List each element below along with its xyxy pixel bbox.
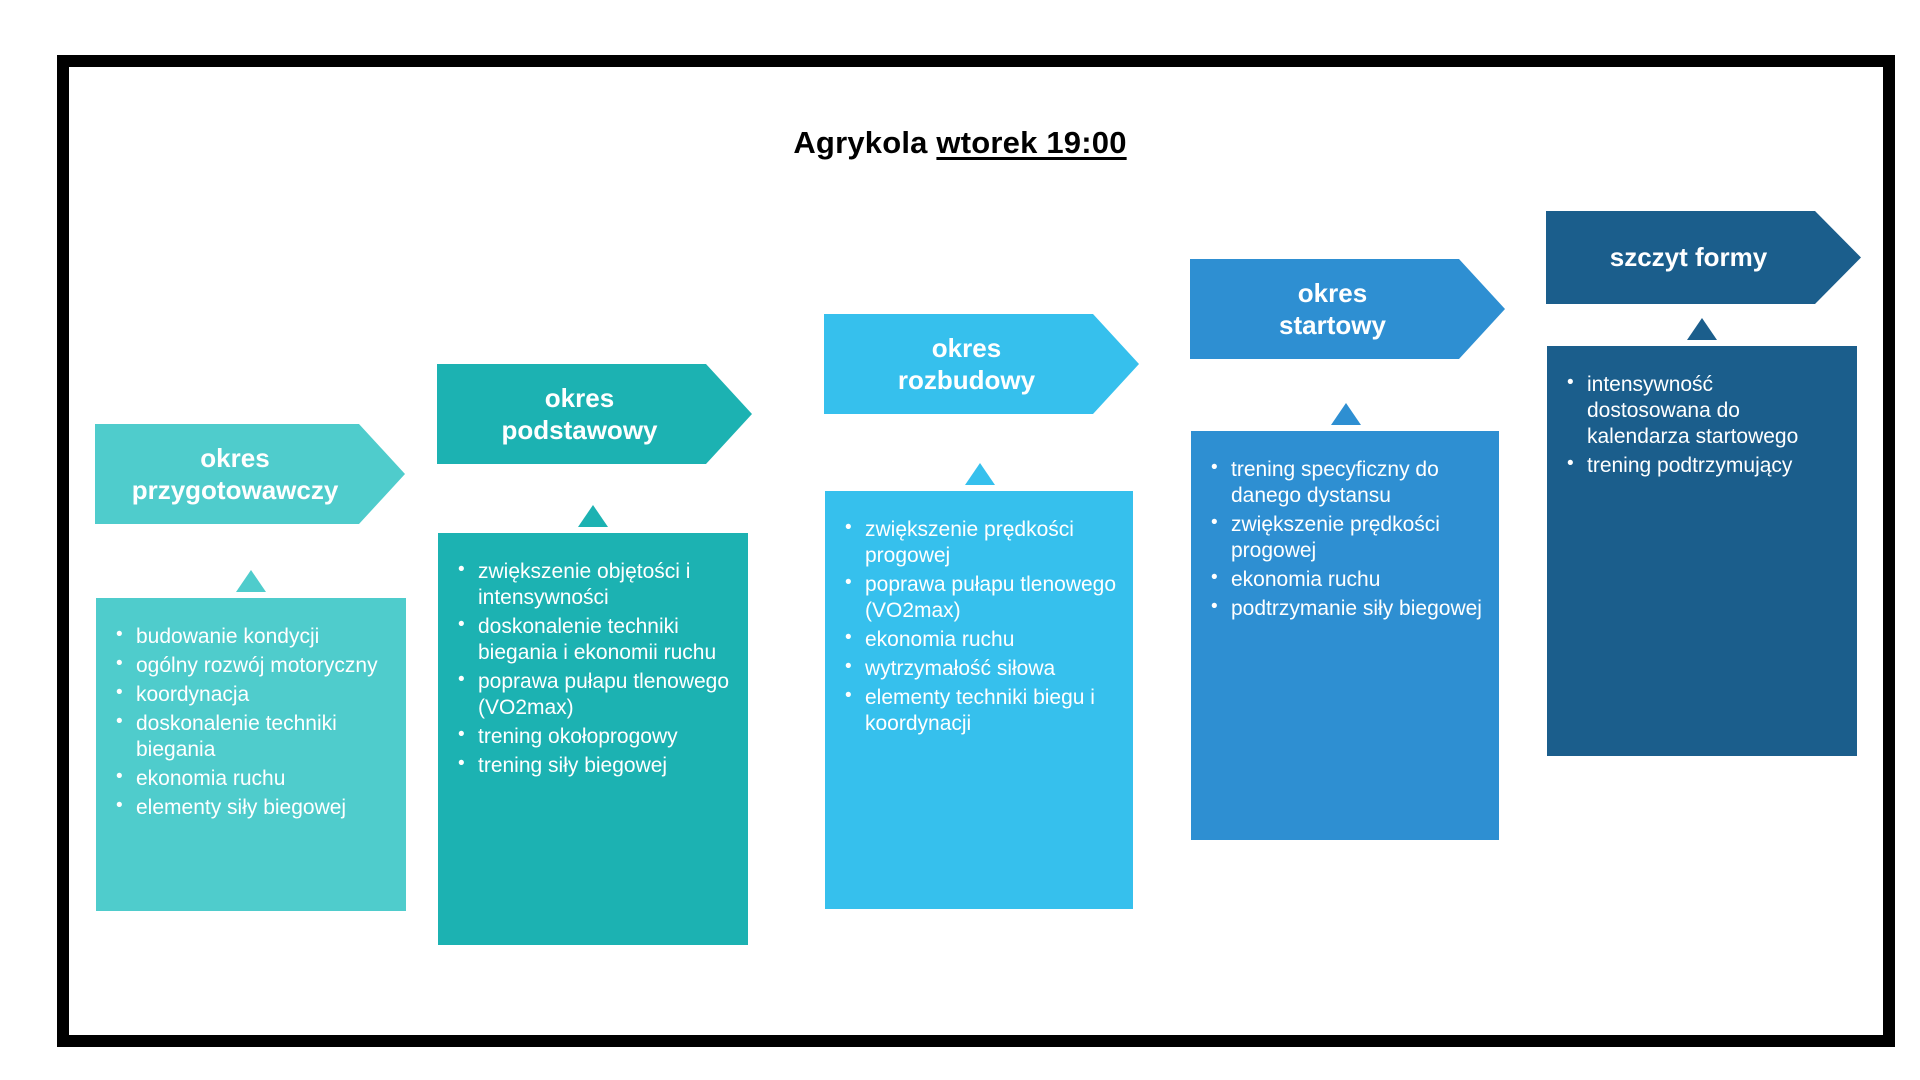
list-item: koordynacja: [114, 682, 390, 708]
list-item: trening siły biegowej: [456, 753, 732, 779]
phase-connector-notch: [236, 570, 266, 592]
list-item: trening podtrzymujący: [1565, 453, 1841, 479]
bullet-list: budowanie kondycji ogólny rozwój motoryc…: [114, 624, 390, 821]
phase-connector-notch: [1687, 318, 1717, 340]
phase-connector-notch: [578, 505, 608, 527]
phase-banner-text: okres rozbudowy: [898, 332, 1035, 397]
title-schedule: wtorek 19:00: [936, 125, 1126, 160]
phase-banner-line1: okres: [1298, 278, 1367, 308]
phase-banner-line2: przygotowawczy: [132, 475, 339, 505]
list-item: poprawa pułapu tlenowego (VO2max): [456, 669, 732, 721]
phase-bullets-okres-rozbudowy: zwiększenie prędkości progowej poprawa p…: [825, 491, 1133, 909]
bullet-list: zwiększenie objętości i intensywności do…: [456, 559, 732, 779]
list-item: elementy siły biegowej: [114, 795, 390, 821]
phase-banner-szczyt-formy[interactable]: szczyt formy: [1546, 211, 1861, 304]
phase-banner-line2: rozbudowy: [898, 365, 1035, 395]
list-item: trening specyficzny do danego dystansu: [1209, 457, 1483, 509]
phase-banner-okres-podstawowy[interactable]: okres podstawowy: [437, 364, 752, 464]
phase-banner-text: okres startowy: [1279, 277, 1386, 342]
bullet-list: intensywność dostosowana do kalendarza s…: [1565, 372, 1841, 479]
list-item: ekonomia ruchu: [114, 766, 390, 792]
slide-canvas: Agrykola wtorek 19:00 okres przygotowawc…: [0, 0, 1920, 1080]
phase-bullets-okres-podstawowy: zwiększenie objętości i intensywności do…: [438, 533, 748, 945]
phase-banner-line1: szczyt formy: [1610, 242, 1768, 272]
phase-bullets-okres-startowy: trening specyficzny do danego dystansu z…: [1191, 431, 1499, 840]
phase-banner-text: szczyt formy: [1610, 241, 1768, 274]
phase-banner-line1: okres: [932, 333, 1001, 363]
list-item: zwiększenie prędkości progowej: [1209, 512, 1483, 564]
list-item: ekonomia ruchu: [843, 627, 1117, 653]
phase-connector-notch: [1331, 403, 1361, 425]
phase-bullets-okres-przygotowawczy: budowanie kondycji ogólny rozwój motoryc…: [96, 598, 406, 911]
bullet-list: zwiększenie prędkości progowej poprawa p…: [843, 517, 1117, 737]
list-item: zwiększenie objętości i intensywności: [456, 559, 732, 611]
phase-banner-line1: okres: [545, 383, 614, 413]
phase-banner-line1: okres: [200, 443, 269, 473]
list-item: zwiększenie prędkości progowej: [843, 517, 1117, 569]
list-item: intensywność dostosowana do kalendarza s…: [1565, 372, 1841, 450]
phase-bullets-szczyt-formy: intensywność dostosowana do kalendarza s…: [1547, 346, 1857, 756]
bullet-list: trening specyficzny do danego dystansu z…: [1209, 457, 1483, 622]
list-item: poprawa pułapu tlenowego (VO2max): [843, 572, 1117, 624]
phase-banner-line2: startowy: [1279, 310, 1386, 340]
phase-banner-okres-startowy[interactable]: okres startowy: [1190, 259, 1505, 359]
list-item: doskonalenie techniki biegania i ekonomi…: [456, 614, 732, 666]
list-item: elementy techniki biegu i koordynacji: [843, 685, 1117, 737]
list-item: podtrzymanie siły biegowej: [1209, 596, 1483, 622]
phase-banner-text: okres przygotowawczy: [132, 442, 339, 507]
list-item: ogólny rozwój motoryczny: [114, 653, 390, 679]
phase-banner-okres-przygotowawczy[interactable]: okres przygotowawczy: [95, 424, 405, 524]
phase-banner-line2: podstawowy: [501, 415, 657, 445]
phase-connector-notch: [965, 463, 995, 485]
list-item: budowanie kondycji: [114, 624, 390, 650]
phase-banner-okres-rozbudowy[interactable]: okres rozbudowy: [824, 314, 1139, 414]
title-location: Agrykola: [793, 125, 936, 160]
page-title: Agrykola wtorek 19:00: [0, 125, 1920, 161]
phase-banner-text: okres podstawowy: [501, 382, 657, 447]
list-item: trening okołoprogowy: [456, 724, 732, 750]
list-item: wytrzymałość siłowa: [843, 656, 1117, 682]
list-item: ekonomia ruchu: [1209, 567, 1483, 593]
list-item: doskonalenie techniki biegania: [114, 711, 390, 763]
